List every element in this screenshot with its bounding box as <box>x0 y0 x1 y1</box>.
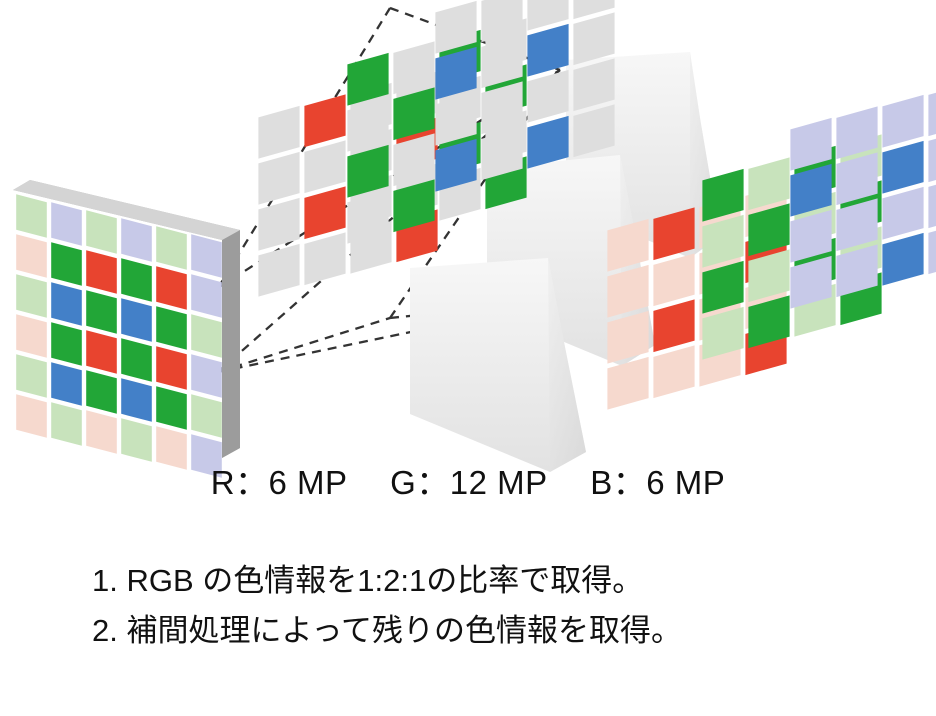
grid-cell <box>156 306 187 350</box>
megapixel-legend: R：6 MP G：12 MP B：6 MP <box>0 456 936 504</box>
grid-cell <box>86 210 117 254</box>
grid-cell <box>51 282 82 326</box>
demosaic-diagram <box>0 0 936 530</box>
grid-cell <box>51 322 82 366</box>
interpolated-plane-blue <box>790 83 936 308</box>
grid-cell <box>121 378 152 422</box>
grid-cell <box>86 290 117 334</box>
grid-cell <box>653 345 694 398</box>
grid-cell <box>191 354 222 398</box>
grid-cell <box>653 253 694 306</box>
grid-cell <box>882 95 923 148</box>
grid-cell <box>156 226 187 270</box>
grid-cell <box>191 274 222 318</box>
grid-cell <box>121 338 152 382</box>
grid-cell <box>191 394 222 438</box>
grid-cell <box>16 274 47 318</box>
grid-cell <box>51 202 82 246</box>
grid-cell <box>16 314 47 358</box>
grid-cell <box>304 232 345 285</box>
grid-cell <box>928 175 936 228</box>
grid-cell <box>191 234 222 278</box>
grid-cell <box>882 233 923 286</box>
grid-cell <box>156 266 187 310</box>
grid-cell <box>928 129 936 182</box>
grid-cell <box>16 394 47 438</box>
grid-cell <box>607 357 648 410</box>
grid-cell <box>86 410 117 454</box>
caption-line-1: 1. RGB の色情報を1:2:1の比率で取得。 <box>0 556 936 606</box>
grid-cell <box>527 24 568 77</box>
grid-cell <box>258 198 299 251</box>
grid-cell <box>258 244 299 297</box>
grid-cell <box>156 346 187 390</box>
grid-cell <box>121 298 152 342</box>
grid-cell <box>86 370 117 414</box>
caption-line-2: 2. 補間処理によって残りの色情報を取得。 <box>0 606 936 656</box>
grid-cell <box>304 140 345 193</box>
grid-cell <box>121 218 152 262</box>
grid-cell <box>51 402 82 446</box>
grid-cell <box>16 354 47 398</box>
grid-cell <box>882 187 923 240</box>
grid-cell <box>51 242 82 286</box>
grid-cell <box>573 12 614 65</box>
grid-cell <box>527 70 568 123</box>
grid-cell <box>16 194 47 238</box>
grid-cell <box>16 234 47 278</box>
grid-cell <box>304 186 345 239</box>
grid-cell <box>121 258 152 302</box>
diagram-canvas <box>0 0 936 530</box>
grid-cell <box>882 141 923 194</box>
grid-cell <box>653 299 694 352</box>
grid-cell <box>304 94 345 147</box>
caption-block: 1. RGB の色情報を1:2:1の比率で取得。 2. 補間処理によって残りの色… <box>0 556 936 656</box>
grid-cell <box>86 250 117 294</box>
grid-cell <box>191 314 222 358</box>
grid-cell <box>258 152 299 205</box>
grid-cell <box>51 362 82 406</box>
grid-cell <box>258 106 299 159</box>
bayer-sensor-array <box>16 194 222 478</box>
grid-cell <box>86 330 117 374</box>
grid-cell <box>928 221 936 274</box>
grid-cell <box>928 83 936 136</box>
grid-cell <box>156 386 187 430</box>
